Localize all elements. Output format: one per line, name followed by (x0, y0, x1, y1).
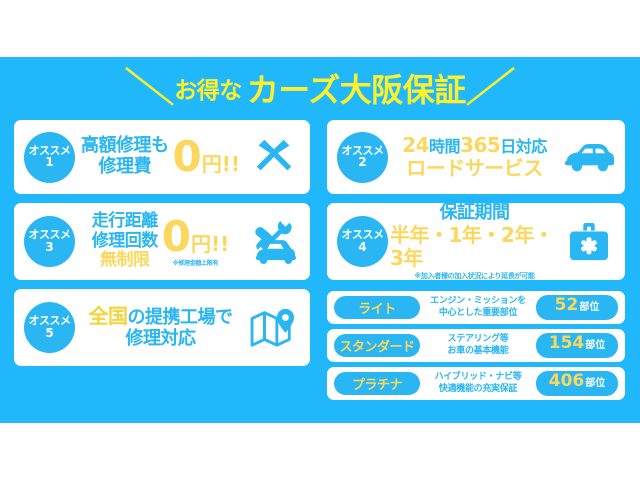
feature-1-text: 高額修理も 修理費 0 円!! (75, 136, 246, 178)
feature-1-amount: 0 (173, 136, 202, 178)
recommend-badge-1: オススメ 1 (24, 132, 75, 183)
feature-2-line2: ロードサービス (406, 157, 543, 180)
plan-description: ハイブリッド・ナビ等 快適機能の充実保証 (420, 372, 536, 395)
plan-desc-line2: お車の基本機能 (423, 346, 533, 357)
slash-left-decoration: ＼ (125, 68, 176, 108)
feature-4-text: 保証期間 半年・1年・2年・3年 ※加入者様の加入状況により延長が可能 (388, 203, 561, 280)
medical-bag-icon (561, 222, 617, 262)
plan-name-badge: スタンダード (334, 334, 420, 357)
feature-panel-4: オススメ 4 保証期間 半年・1年・2年・3年 ※加入者様の加入状況により延長が… (327, 203, 625, 280)
badge-number: 4 (358, 241, 366, 254)
plan-desc-line1: ステアリング等 (423, 334, 533, 345)
badge-number: 5 (45, 327, 53, 340)
feature-5-line2: 修理対応 (126, 329, 196, 350)
recommend-badge-4: オススメ 4 (337, 216, 388, 267)
plan-count-number: 406 (549, 371, 585, 391)
plan-count-unit: 部位 (585, 336, 605, 351)
feature-5-line1: 全国の提携工場で (89, 305, 233, 329)
plan-parts-count: 154 部位 (536, 333, 618, 358)
feature-2-text: 24時間365日対応 ロードサービス (388, 134, 561, 180)
feature-5-line1-rest: の提携工場で (128, 307, 233, 328)
feature-panel-5: オススメ 5 全国の提携工場で 修理対応 (14, 289, 310, 366)
feature-2-hours: 24 (402, 133, 429, 157)
plan-row-platinum[interactable]: プラチナ ハイブリッド・ナビ等 快適機能の充実保証 406 部位 (327, 367, 625, 400)
badge-number: 1 (45, 156, 53, 169)
feature-1-line2: 修理費 (99, 157, 152, 178)
page-title: ＼ お得な カーズ大阪保証 ／ (0, 62, 640, 114)
map-pin-icon (246, 307, 302, 349)
feature-3-line3: 無制限 (100, 251, 150, 271)
recommend-badge-5: オススメ 5 (24, 302, 75, 353)
plan-desc-line2: 快適機能の充実保証 (423, 384, 533, 395)
plan-row-standard[interactable]: スタンダード ステアリング等 お車の基本機能 154 部位 (327, 329, 625, 362)
feature-1-amount-unit: 円!! (202, 154, 240, 178)
feature-3-line2: 修理回数 (92, 232, 158, 252)
feature-panel-2: オススメ 2 24時間365日対応 ロードサービス (327, 120, 625, 194)
feature-3-amount: 0 (162, 216, 191, 258)
feature-3-line1: 走行距離 (92, 212, 158, 232)
feature-4-line1: 保証期間 (440, 203, 510, 224)
feature-4-line2: 半年・1年・2年・3年 (390, 224, 559, 270)
headline-prefix: お得な (174, 71, 242, 105)
headline-main: カーズ大阪保証 (247, 65, 466, 111)
plan-desc-line1: エンジン・ミッションを (423, 296, 533, 307)
plan-parts-count: 406 部位 (536, 371, 618, 396)
hammer-pickaxe-icon (246, 134, 302, 180)
feature-5-text: 全国の提携工場で 修理対応 (75, 305, 246, 349)
badge-number: 2 (358, 156, 366, 169)
slash-right-decoration: ／ (464, 68, 515, 108)
feature-4-note: ※加入者様の加入状況により延長が可能 (414, 272, 534, 280)
feature-1-line1: 高額修理も (81, 136, 169, 157)
feature-2-days-unit: 日対応 (500, 137, 547, 156)
feature-panel-1: オススメ 1 高額修理も 修理費 0 円!! (14, 120, 310, 194)
badge-number: 3 (45, 241, 53, 254)
plan-count-unit: 部位 (579, 298, 599, 313)
feature-3-amount-unit: 円!! (191, 234, 229, 258)
advertisement-banner: ＼ お得な カーズ大阪保証 ／ オススメ 1 高額修理も 修理費 0 円!! (0, 0, 640, 480)
recommend-badge-3: オススメ 3 (24, 216, 75, 267)
plan-row-light[interactable]: ライト エンジン・ミッションを 中心とした重要部位 52 部位 (327, 291, 625, 324)
recommend-badge-2: オススメ 2 (337, 132, 388, 183)
plan-name-badge: プラチナ (334, 372, 420, 395)
feature-5-highlight: 全国 (89, 304, 128, 328)
feature-panel-3: オススメ 3 走行距離 修理回数 無制限 0 円!! ※修理金額上限有 (14, 203, 310, 280)
wrench-car-icon (246, 220, 302, 264)
feature-2-days: 365 (460, 133, 500, 157)
feature-2-hours-unit: 時間 (429, 137, 460, 156)
plan-count-unit: 部位 (585, 374, 605, 389)
plan-parts-count: 52 部位 (536, 295, 618, 320)
car-side-icon (561, 140, 617, 174)
plan-count-number: 52 (555, 295, 579, 315)
plan-desc-line2: 中心とした重要部位 (423, 308, 533, 319)
feature-3-note: ※修理金額上限有 (173, 258, 218, 267)
plan-count-number: 154 (549, 333, 585, 353)
plan-name-badge: ライト (334, 296, 420, 319)
feature-2-line1: 24時間365日対応 (402, 134, 547, 157)
plan-description: エンジン・ミッションを 中心とした重要部位 (420, 296, 536, 319)
plan-description: ステアリング等 お車の基本機能 (420, 334, 536, 357)
feature-3-text: 走行距離 修理回数 無制限 0 円!! ※修理金額上限有 (75, 212, 246, 271)
plan-desc-line1: ハイブリッド・ナビ等 (423, 372, 533, 383)
